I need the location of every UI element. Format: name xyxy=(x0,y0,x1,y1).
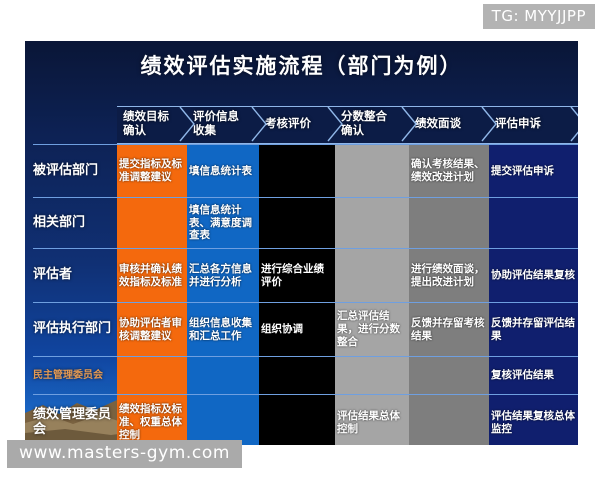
cell-0-c4[interactable] xyxy=(335,145,409,197)
stage-header-line1: 考核评价 xyxy=(265,116,311,130)
stage-header-line2: 收集 xyxy=(193,124,239,138)
cell-4-c6[interactable]: 复核评估结果 xyxy=(489,357,578,394)
chevron-right-icon xyxy=(480,106,498,142)
process-matrix-table: 绩效目标确认评价信息收集考核评价分数整合确认绩效面谈评估申诉 被评估部门提交指标… xyxy=(33,104,578,445)
cell-0-c1[interactable]: 提交指标及标准调整建议 xyxy=(117,145,187,197)
chevron-right-icon xyxy=(326,106,344,142)
matrix-body: 被评估部门提交指标及标准调整建议填信息统计表确认考核结果、绩效改进计划提交评估申… xyxy=(33,144,578,445)
cell-2-c6[interactable]: 协助评估结果复核 xyxy=(489,249,578,302)
cell-text: 汇总各方信息并进行分析 xyxy=(189,263,257,289)
cell-2-c1[interactable]: 审核并确认绩效指标及标准 xyxy=(117,249,187,302)
cell-1-c5[interactable] xyxy=(409,198,489,248)
site-watermark: www.masters-gym.com xyxy=(7,440,242,468)
cell-text: 组织信息收集和汇总工作 xyxy=(189,317,257,343)
matrix-row: 民主管理委员会复核评估结果 xyxy=(33,356,578,394)
matrix-row: 相关部门填信息统计表、满意度调查表 xyxy=(33,197,578,248)
cell-text: 汇总评估结果，进行分数整合 xyxy=(337,310,407,348)
cell-5-c2[interactable] xyxy=(187,395,259,445)
cell-text: 确认考核结果、绩效改进计划 xyxy=(411,158,487,184)
cell-text: 评估结果复核总体监控 xyxy=(491,410,576,436)
cell-1-c3[interactable] xyxy=(259,198,335,248)
row-label-0: 被评估部门 xyxy=(33,145,117,197)
cell-1-c6[interactable] xyxy=(489,198,578,248)
stage-header-c2[interactable]: 评价信息收集 xyxy=(193,106,251,142)
stage-header-line1: 绩效面谈 xyxy=(415,116,461,130)
cell-5-c1[interactable]: 绩效指标及标准、权重总体控制 xyxy=(117,395,187,445)
stage-header-line2: 确认 xyxy=(341,124,387,138)
cell-text: 协助评估结果复核 xyxy=(491,269,575,282)
cell-text: 填信息统计表 xyxy=(189,165,252,178)
stage-header-line1: 评估申诉 xyxy=(495,116,541,130)
cell-text: 审核并确认绩效指标及标准 xyxy=(119,263,185,289)
process-stage-header-band: 绩效目标确认评价信息收集考核评价分数整合确认绩效面谈评估申诉 xyxy=(33,104,578,144)
stage-header-line1: 分数整合 xyxy=(341,109,387,123)
cell-text: 组织协调 xyxy=(261,323,303,336)
matrix-row: 评估者审核并确认绩效指标及标准汇总各方信息并进行分析进行综合业绩评价进行绩效面谈… xyxy=(33,248,578,302)
cell-0-c5[interactable]: 确认考核结果、绩效改进计划 xyxy=(409,145,489,197)
stage-header-line1: 绩效目标 xyxy=(123,109,169,123)
row-label-1: 相关部门 xyxy=(33,198,117,248)
cell-3-c3[interactable]: 组织协调 xyxy=(259,303,335,356)
chevron-right-icon xyxy=(178,106,196,142)
slide-screenshot: TG: MYYJJPP 绩效评估实施流程（部门为例） 绩效目标确认评价信息收集考… xyxy=(0,0,600,480)
cell-4-c4[interactable] xyxy=(335,357,409,394)
cell-4-c3[interactable] xyxy=(259,357,335,394)
cell-1-c1[interactable] xyxy=(117,198,187,248)
row-label-2: 评估者 xyxy=(33,249,117,302)
matrix-row: 绩效管理委员会绩效指标及标准、权重总体控制评估结果总体控制评估结果复核总体监控 xyxy=(33,394,578,445)
cell-0-c6[interactable]: 提交评估申诉 xyxy=(489,145,578,197)
stage-header-line2: 确认 xyxy=(123,124,169,138)
slide-title: 绩效评估实施流程（部门为例） xyxy=(25,50,578,80)
matrix-row: 评估执行部门协助评估者审核调整建议组织信息收集和汇总工作组织协调汇总评估结果，进… xyxy=(33,302,578,356)
presentation-slide: 绩效评估实施流程（部门为例） 绩效目标确认评价信息收集考核评价分数整合确认绩效面… xyxy=(25,41,578,445)
stage-header-c6[interactable]: 评估申诉 xyxy=(495,106,570,142)
chevron-right-icon xyxy=(400,106,418,142)
row-label-3: 评估执行部门 xyxy=(33,303,117,356)
stage-header-c5[interactable]: 绩效面谈 xyxy=(415,106,481,142)
chevron-right-icon xyxy=(569,106,578,142)
cell-2-c4[interactable] xyxy=(335,249,409,302)
cell-text: 反馈并存留评估结果 xyxy=(491,317,576,343)
cell-text: 进行绩效面谈，提出改进计划 xyxy=(411,263,487,289)
stage-header-c4[interactable]: 分数整合确认 xyxy=(341,106,401,142)
stage-header-line1: 评价信息 xyxy=(193,109,239,123)
cell-1-c4[interactable] xyxy=(335,198,409,248)
cell-text: 进行综合业绩评价 xyxy=(261,263,333,289)
cell-text: 填信息统计表、满意度调查表 xyxy=(189,204,257,242)
cell-2-c2[interactable]: 汇总各方信息并进行分析 xyxy=(187,249,259,302)
cell-text: 提交评估申诉 xyxy=(491,165,554,178)
cell-1-c2[interactable]: 填信息统计表、满意度调查表 xyxy=(187,198,259,248)
cell-2-c3[interactable]: 进行综合业绩评价 xyxy=(259,249,335,302)
stage-header-c1[interactable]: 绩效目标确认 xyxy=(123,106,179,142)
cell-0-c2[interactable]: 填信息统计表 xyxy=(187,145,259,197)
cell-5-c6[interactable]: 评估结果复核总体监控 xyxy=(489,395,578,445)
cell-text: 复核评估结果 xyxy=(491,369,554,382)
cell-5-c3[interactable] xyxy=(259,395,335,445)
stage-header-c3[interactable]: 考核评价 xyxy=(265,106,327,142)
cell-2-c5[interactable]: 进行绩效面谈，提出改进计划 xyxy=(409,249,489,302)
matrix-row: 被评估部门提交指标及标准调整建议填信息统计表确认考核结果、绩效改进计划提交评估申… xyxy=(33,144,578,197)
cell-4-c5[interactable] xyxy=(409,357,489,394)
cell-text: 评估结果总体控制 xyxy=(337,410,407,436)
cell-3-c5[interactable]: 反馈并存留考核结果 xyxy=(409,303,489,356)
cell-4-c2[interactable] xyxy=(187,357,259,394)
cell-0-c3[interactable] xyxy=(259,145,335,197)
row-label-4: 民主管理委员会 xyxy=(33,357,117,394)
cell-text: 反馈并存留考核结果 xyxy=(411,317,487,343)
cell-text: 绩效指标及标准、权重总体控制 xyxy=(119,403,185,441)
cell-text: 协助评估者审核调整建议 xyxy=(119,317,185,343)
tg-watermark-tag: TG: MYYJJPP xyxy=(483,4,595,29)
chevron-right-icon xyxy=(250,106,268,142)
cell-4-c1[interactable] xyxy=(117,357,187,394)
cell-3-c2[interactable]: 组织信息收集和汇总工作 xyxy=(187,303,259,356)
cell-3-c4[interactable]: 汇总评估结果，进行分数整合 xyxy=(335,303,409,356)
cell-5-c4[interactable]: 评估结果总体控制 xyxy=(335,395,409,445)
cell-5-c5[interactable] xyxy=(409,395,489,445)
cell-3-c6[interactable]: 反馈并存留评估结果 xyxy=(489,303,578,356)
row-label-5: 绩效管理委员会 xyxy=(33,395,117,445)
cell-text: 提交指标及标准调整建议 xyxy=(119,158,185,184)
cell-3-c1[interactable]: 协助评估者审核调整建议 xyxy=(117,303,187,356)
